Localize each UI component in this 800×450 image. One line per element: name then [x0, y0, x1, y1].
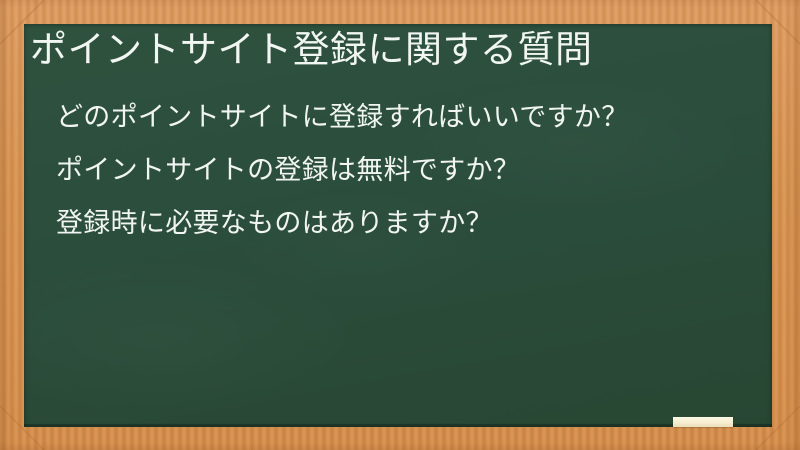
- board-title: ポイントサイト登録に関する質問: [30, 30, 593, 70]
- chalk-stick: [673, 417, 733, 427]
- list-item: 登録時に必要なものはありますか？: [56, 210, 629, 237]
- list-item: どのポイントサイトに登録すればいいですか？: [56, 104, 629, 131]
- list-item: ポイントサイトの登録は無料ですか？: [56, 157, 629, 184]
- chalkboard-slide: ポイントサイト登録に関する質問 どのポイントサイトに登録すればいいですか？ ポイ…: [0, 0, 800, 450]
- question-list: どのポイントサイトに登録すればいいですか？ ポイントサイトの登録は無料ですか？ …: [56, 104, 629, 263]
